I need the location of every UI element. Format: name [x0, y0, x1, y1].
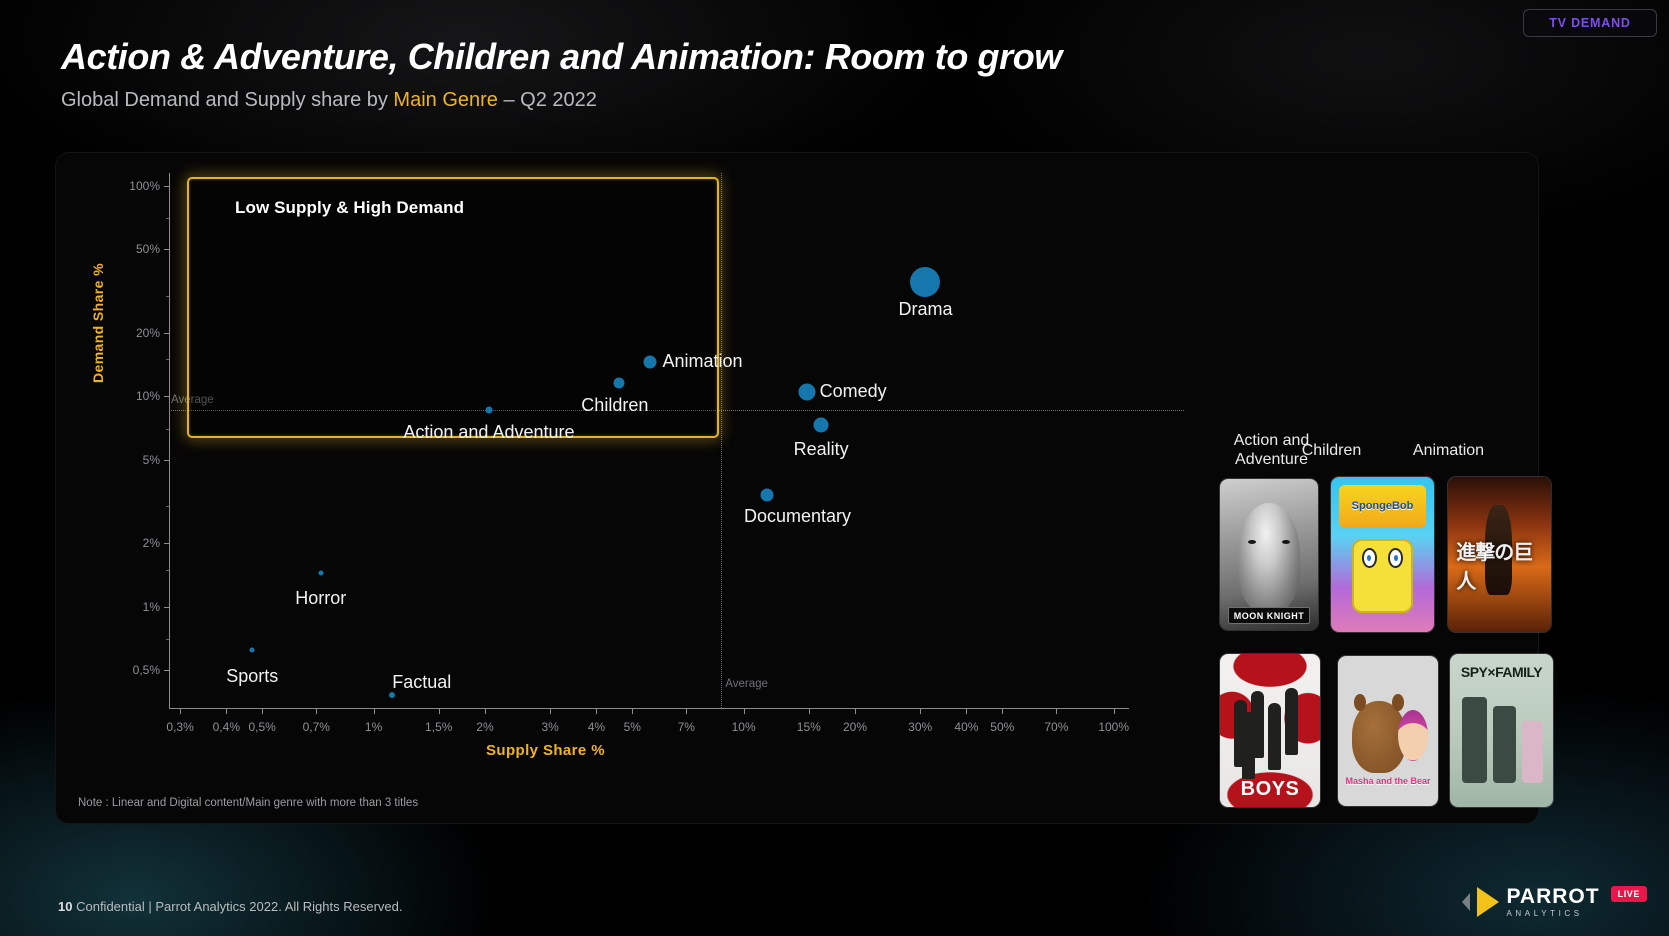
y-tick-label: 2% [143, 536, 160, 550]
x-tick [439, 709, 440, 714]
x-tick [920, 709, 921, 714]
figure-2 [1493, 706, 1516, 783]
logo-wordmark: PARROT ANALYTICS [1506, 886, 1599, 918]
data-label-documentary: Documentary [744, 506, 851, 527]
y-tick-label: 50% [136, 242, 160, 256]
poster-moon-knight[interactable]: MOON KNIGHT [1219, 478, 1319, 631]
poster-title: MOON KNIGHT [1229, 611, 1309, 621]
x-axis-title: Supply Share % [486, 742, 605, 759]
data-label-factual: Factual [392, 672, 451, 693]
x-tick [262, 709, 263, 714]
poster-title: SpongeBob [1339, 485, 1426, 528]
average-supply-line [721, 173, 722, 708]
y-tick-label: 0,5% [133, 663, 160, 677]
x-tick [809, 709, 810, 714]
x-tick [1002, 709, 1003, 714]
y-tick [164, 670, 169, 671]
x-tick-label: 7% [678, 720, 695, 734]
slide-root: TV DEMAND Action & Adventure, Children a… [0, 0, 1669, 936]
x-tick [180, 709, 181, 714]
eye-left-icon [1362, 548, 1377, 568]
x-tick-label: 1% [365, 720, 382, 734]
poster-gallery: Action and AdventureChildrenAnimationMOO… [1164, 273, 1534, 818]
y-tick [164, 186, 169, 187]
y-minor-tick [166, 429, 169, 430]
logo-subtitle: ANALYTICS [1506, 910, 1599, 918]
data-label-comedy: Comedy [820, 381, 887, 402]
parrot-mark-icon [1477, 887, 1499, 917]
x-tick-label: 70% [1044, 720, 1068, 734]
poster-art: 進撃の巨人 [1448, 477, 1551, 632]
x-tick-label: 0,7% [303, 720, 330, 734]
data-point-sports[interactable] [250, 648, 255, 653]
x-tick-label: 0,4% [213, 720, 240, 734]
pupil [1394, 555, 1398, 561]
poster-art: SpongeBob [1331, 477, 1434, 632]
x-tick [485, 709, 486, 714]
footer: 10 Confidential | Parrot Analytics 2022.… [58, 899, 402, 914]
footer-text: Confidential | Parrot Analytics 2022. Al… [76, 899, 402, 914]
page-title: Action & Adventure, Children and Animati… [61, 36, 1062, 78]
y-minor-tick [166, 570, 169, 571]
x-tick-label: 15% [797, 720, 821, 734]
poster-title: Masha and the Bear [1344, 767, 1432, 794]
chart-panel: Demand Share % Supply Share % 100%50%20%… [55, 152, 1539, 824]
x-tick-label: 3% [541, 720, 558, 734]
y-tick [164, 460, 169, 461]
x-tick-label: 100% [1098, 720, 1129, 734]
y-tick-label: 100% [129, 179, 160, 193]
poster-spongebob-squarepants[interactable]: SpongeBob [1330, 476, 1435, 633]
x-tick-label: 2% [476, 720, 493, 734]
spongebob-figure [1352, 539, 1414, 613]
poster-attack-on-titan[interactable]: 進撃の巨人 [1447, 476, 1552, 633]
chevron-left-icon [1462, 893, 1470, 911]
x-tick-label: 40% [954, 720, 978, 734]
y-tick [164, 396, 169, 397]
x-tick [855, 709, 856, 714]
poster-art: SPY×FAMILY [1450, 654, 1553, 807]
poster-title: SPY×FAMILY [1450, 660, 1553, 683]
x-axis-line [169, 708, 1129, 709]
poster-title: BOYS [1220, 778, 1320, 801]
scatter-plot: 100%50%20%10%5%2%1%0,5%0,3%0,4%0,5%0,7%1… [169, 173, 1129, 708]
masha-figure [1398, 710, 1428, 761]
tv-demand-badge: TV DEMAND [1523, 9, 1657, 37]
y-tick-label: 20% [136, 326, 160, 340]
figure-3 [1268, 703, 1281, 770]
x-tick [966, 709, 967, 714]
y-minor-tick [166, 506, 169, 507]
data-point-children[interactable] [613, 378, 624, 389]
data-label-horror: Horror [295, 588, 346, 609]
data-point-drama[interactable] [910, 267, 940, 297]
eye-left-icon [1248, 540, 1257, 544]
poster-title: 進撃の巨人 [1456, 536, 1551, 594]
parrot-analytics-logo: PARROT ANALYTICS LIVE [1462, 886, 1647, 918]
poster-art: MOON KNIGHT [1220, 479, 1318, 630]
y-minor-tick [166, 296, 169, 297]
poster-the-boys[interactable]: BOYS [1219, 653, 1321, 808]
poster-column-header-3: Animation [1386, 441, 1511, 460]
figure-3 [1522, 721, 1543, 782]
y-tick [164, 543, 169, 544]
data-label-animation: Animation [662, 351, 742, 372]
poster-art: Masha and the Bear [1338, 656, 1438, 806]
subtitle-suffix: – Q2 2022 [498, 89, 597, 111]
data-point-reality[interactable] [814, 417, 829, 432]
logo-name: PARROT [1506, 886, 1599, 907]
data-point-animation[interactable] [644, 356, 657, 369]
x-tick [550, 709, 551, 714]
live-badge: LIVE [1611, 886, 1647, 902]
y-tick [164, 249, 169, 250]
figure-5 [1242, 712, 1255, 779]
poster-spy-x-family[interactable]: SPY×FAMILY [1449, 653, 1554, 808]
x-tick [226, 709, 227, 714]
x-tick-label: 5% [624, 720, 641, 734]
poster-column-header-2: Children [1269, 441, 1394, 460]
y-minor-tick [166, 359, 169, 360]
data-label-children: Children [581, 395, 648, 416]
x-tick [374, 709, 375, 714]
y-tick-label: 10% [136, 389, 160, 403]
x-tick-label: 50% [990, 720, 1014, 734]
tv-demand-label: TV DEMAND [1549, 16, 1631, 30]
y-tick [164, 333, 169, 334]
ear-right-icon [1392, 694, 1404, 711]
data-label-action-and-adventure: Action and Adventure [403, 422, 574, 443]
data-label-drama: Drama [898, 299, 952, 320]
x-tick [1056, 709, 1057, 714]
y-minor-tick [166, 218, 169, 219]
average-supply-label: Average [725, 678, 768, 690]
data-point-action-and-adventure[interactable] [485, 407, 492, 414]
moon-knight-figure [1238, 503, 1301, 612]
x-tick [632, 709, 633, 714]
plot-wrapper: Demand Share % Supply Share % 100%50%20%… [56, 153, 1156, 825]
x-tick-label: 20% [843, 720, 867, 734]
data-label-sports: Sports [226, 666, 278, 687]
subtitle-prefix: Global Demand and Supply share by [61, 89, 393, 111]
x-tick-label: 10% [732, 720, 756, 734]
eye-right-icon [1282, 540, 1291, 544]
data-label-reality: Reality [794, 439, 849, 460]
x-tick-label: 30% [908, 720, 932, 734]
x-tick [686, 709, 687, 714]
ear-left-icon [1354, 694, 1366, 711]
page-subtitle: Global Demand and Supply share by Main G… [61, 89, 597, 112]
y-tick-label: 1% [143, 600, 160, 614]
x-tick [744, 709, 745, 714]
y-minor-tick [166, 639, 169, 640]
x-tick [316, 709, 317, 714]
page-number: 10 [58, 899, 72, 914]
figure-1 [1462, 697, 1487, 783]
data-point-horror[interactable] [318, 570, 323, 575]
chart-note: Note : Linear and Digital content/Main g… [78, 797, 418, 809]
subtitle-accent: Main Genre [393, 89, 498, 111]
data-point-comedy[interactable] [798, 383, 815, 400]
x-tick [596, 709, 597, 714]
figure-4 [1285, 688, 1298, 755]
highlight-title: Low Supply & High Demand [235, 198, 464, 218]
x-tick-label: 0,5% [248, 720, 275, 734]
poster-masha-and-the-bear[interactable]: Masha and the Bear [1337, 655, 1439, 807]
x-tick-label: 1,5% [425, 720, 452, 734]
x-tick [1114, 709, 1115, 714]
x-tick-label: 0,3% [166, 720, 193, 734]
x-tick-label: 4% [588, 720, 605, 734]
poster-art: BOYS [1220, 654, 1320, 807]
y-tick [164, 607, 169, 608]
data-point-documentary[interactable] [761, 488, 774, 501]
poster-title-band: MOON KNIGHT [1228, 607, 1310, 624]
y-axis-title: Demand Share % [90, 263, 106, 383]
y-tick-label: 5% [143, 453, 160, 467]
pupil [1367, 555, 1371, 561]
eye-right-icon [1388, 548, 1403, 568]
y-axis-line [169, 173, 170, 708]
